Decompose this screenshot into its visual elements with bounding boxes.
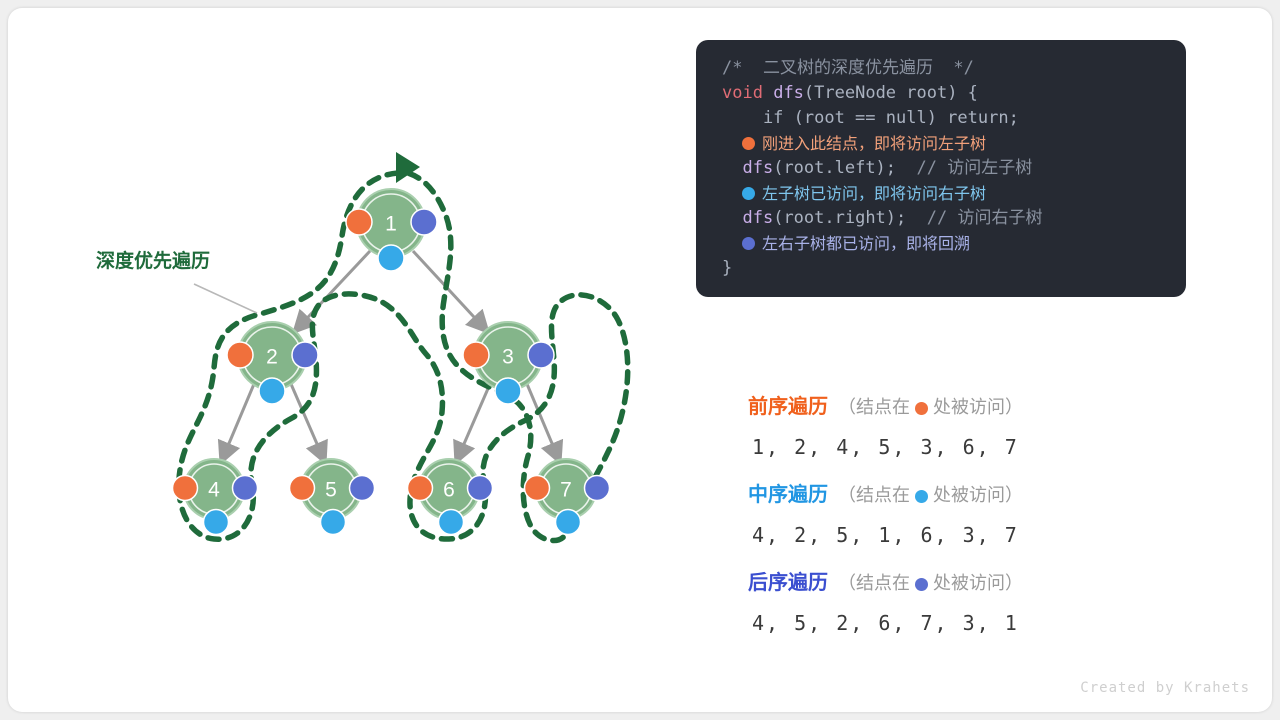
code-line: } (696, 256, 1186, 281)
post-order-dot-icon (915, 578, 928, 591)
note-suffix: 处被访问） (933, 397, 1023, 417)
node-label: 5 (325, 479, 337, 502)
pre-order-dot-icon (742, 137, 755, 150)
code-annotation-preorder: 刚进入此结点，即将访问左子树 (696, 131, 1186, 156)
in-order-marker (321, 510, 346, 535)
result-group-postorder: 后序遍历（结点在处被访问） 4, 5, 2, 6, 7, 3, 1 (748, 566, 1268, 646)
in-order-dot-icon (742, 187, 755, 200)
figure-card: 深度优先遍历 1 (8, 8, 1272, 712)
in-order-marker (439, 510, 464, 535)
node-label: 4 (208, 479, 220, 502)
tree-node-2[interactable]: 2 (227, 322, 318, 404)
tree-nodes: 1 2 (173, 189, 610, 535)
code-annotation-inorder: 左子树已访问，即将访问右子树 (696, 181, 1186, 206)
result-group-preorder: 前序遍历（结点在处被访问） 1, 2, 4, 5, 3, 6, 7 (748, 390, 1268, 470)
result-title: 中序遍历 (748, 484, 828, 506)
note-prefix: （结点在 (838, 397, 910, 417)
note-suffix: 处被访问） (933, 573, 1023, 593)
result-title: 前序遍历 (748, 396, 828, 418)
result-sequence: 1, 2, 4, 5, 3, 6, 7 (748, 424, 1268, 470)
node-label: 3 (502, 346, 514, 369)
code-line: if (root == null) return; (696, 106, 1186, 131)
result-note: （结点在处被访问） (838, 397, 1023, 417)
pre-order-dot-icon (915, 402, 928, 415)
node-label: 1 (385, 213, 397, 236)
result-sequence: 4, 2, 5, 1, 6, 3, 7 (748, 512, 1268, 558)
post-order-dot-icon (742, 237, 755, 250)
pre-order-marker (408, 476, 433, 501)
in-order-marker (495, 378, 521, 404)
in-order-marker (259, 378, 285, 404)
caption-leader-line (194, 284, 257, 313)
tree-node-1[interactable]: 1 (346, 189, 437, 271)
result-heading: 前序遍历（结点在处被访问） (748, 390, 1268, 424)
result-heading: 中序遍历（结点在处被访问） (748, 478, 1268, 512)
code-line: dfs(root.left); // 访问左子树 (696, 156, 1186, 181)
in-order-dot-icon (915, 490, 928, 503)
pre-order-marker (227, 342, 253, 368)
dfs-caption-label: 深度优先遍历 (96, 249, 210, 272)
annotation-text: 左右子树都已访问，即将回溯 (762, 234, 970, 253)
code-line: /* 二叉树的深度优先遍历 */ (696, 56, 1186, 81)
tree-svg: 深度优先遍历 1 (8, 8, 688, 712)
tree-node-5[interactable]: 5 (290, 459, 375, 535)
pre-order-marker (346, 209, 372, 235)
post-order-marker (233, 476, 258, 501)
note-suffix: 处被访问） (933, 485, 1023, 505)
post-order-marker (350, 476, 375, 501)
post-order-marker (585, 476, 610, 501)
right-column: /* 二叉树的深度优先遍历 */ void dfs(TreeNode root)… (688, 8, 1272, 712)
edge-2-4 (222, 384, 254, 460)
annotation-text: 刚进入此结点，即将访问左子树 (762, 134, 986, 153)
code-annotation-postorder: 左右子树都已访问，即将回溯 (696, 231, 1186, 256)
result-group-inorder: 中序遍历（结点在处被访问） 4, 2, 5, 1, 6, 3, 7 (748, 478, 1268, 558)
watermark: Created by Krahets (1080, 680, 1250, 696)
edge-3-6 (457, 384, 490, 460)
in-order-marker (556, 510, 581, 535)
note-prefix: （结点在 (838, 573, 910, 593)
post-order-marker (468, 476, 493, 501)
code-line: dfs(root.right); // 访问右子树 (696, 206, 1186, 231)
tree-node-3[interactable]: 3 (463, 322, 554, 404)
result-heading: 后序遍历（结点在处被访问） (748, 566, 1268, 600)
result-sequence: 4, 5, 2, 6, 7, 3, 1 (748, 600, 1268, 646)
post-order-marker (292, 342, 318, 368)
pre-order-marker (173, 476, 198, 501)
node-label: 6 (443, 479, 455, 502)
result-note: （结点在处被访问） (838, 485, 1023, 505)
result-title: 后序遍历 (748, 572, 828, 594)
code-line: void dfs(TreeNode root) { (696, 81, 1186, 106)
in-order-marker (204, 510, 229, 535)
in-order-marker (378, 245, 404, 271)
pre-order-marker (525, 476, 550, 501)
code-block: /* 二叉树的深度优先遍历 */ void dfs(TreeNode root)… (696, 40, 1186, 297)
annotation-text: 左子树已访问，即将访问右子树 (762, 184, 986, 203)
post-order-marker (411, 209, 437, 235)
binary-tree-diagram: 深度优先遍历 1 (8, 8, 688, 712)
edge-3-7 (527, 384, 559, 460)
pre-order-marker (290, 476, 315, 501)
result-note: （结点在处被访问） (838, 573, 1023, 593)
post-order-marker (528, 342, 554, 368)
node-label: 2 (266, 346, 278, 369)
note-prefix: （结点在 (838, 485, 910, 505)
traversal-results: 前序遍历（结点在处被访问） 1, 2, 4, 5, 3, 6, 7 中序遍历（结… (748, 390, 1268, 654)
node-label: 7 (560, 479, 572, 502)
edge-2-5 (291, 384, 324, 460)
pre-order-marker (463, 342, 489, 368)
